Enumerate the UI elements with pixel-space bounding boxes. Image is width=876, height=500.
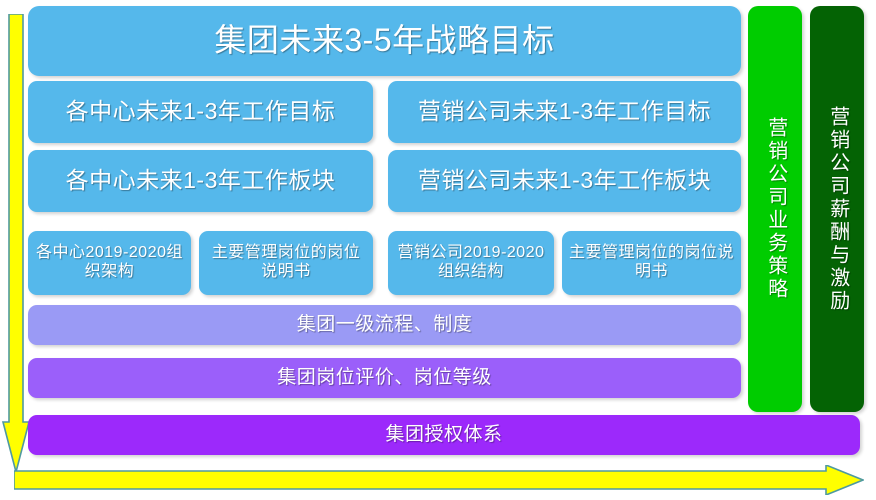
vertical-bar-business-strategy: 营销公司业务策略 [748, 6, 802, 412]
mini-box-center-org: 各中心2019-2020组织架构 [28, 231, 191, 295]
mini-box-center-jd-label: 主要管理岗位的岗位说明书 [205, 244, 367, 282]
band-authorization-label: 集团授权体系 [385, 424, 502, 446]
plate-box-center: 各中心未来1-3年工作板块 [28, 150, 373, 212]
plate-box-center-label: 各中心未来1-3年工作板块 [66, 167, 336, 194]
band-authorization: 集团授权体系 [28, 415, 860, 455]
plate-box-marketing: 营销公司未来1-3年工作板块 [388, 150, 741, 212]
band-group-process: 集团一级流程、制度 [28, 305, 741, 345]
mini-box-marketing-org: 营销公司2019-2020组织结构 [388, 231, 554, 295]
right-arrow-icon [14, 465, 864, 495]
mini-box-center-jd: 主要管理岗位的岗位说明书 [199, 231, 373, 295]
vertical-bar-business-strategy-label: 营销公司业务策略 [763, 117, 787, 301]
title-box-label: 集团未来3-5年战略目标 [214, 22, 554, 60]
goal-box-marketing: 营销公司未来1-3年工作目标 [388, 81, 741, 143]
down-arrow-icon [2, 14, 30, 474]
mini-box-marketing-jd: 主要管理岗位的岗位说明书 [562, 231, 741, 295]
title-box: 集团未来3-5年战略目标 [28, 6, 741, 76]
vertical-bar-compensation-incentive: 营销公司薪酬与激励 [810, 6, 864, 412]
goal-box-center-label: 各中心未来1-3年工作目标 [66, 98, 336, 125]
mini-box-center-org-label: 各中心2019-2020组织架构 [34, 244, 185, 282]
band-group-process-label: 集团一级流程、制度 [297, 314, 473, 336]
mini-box-marketing-jd-label: 主要管理岗位的岗位说明书 [568, 244, 735, 282]
band-job-grading-label: 集团岗位评价、岗位等级 [277, 367, 492, 389]
diagram-canvas: 集团未来3-5年战略目标 各中心未来1-3年工作目标 营销公司未来1-3年工作目… [0, 0, 876, 500]
goal-box-center: 各中心未来1-3年工作目标 [28, 81, 373, 143]
goal-box-marketing-label: 营销公司未来1-3年工作目标 [418, 98, 711, 125]
band-job-grading: 集团岗位评价、岗位等级 [28, 358, 741, 398]
plate-box-marketing-label: 营销公司未来1-3年工作板块 [418, 167, 711, 194]
mini-box-marketing-org-label: 营销公司2019-2020组织结构 [394, 244, 548, 282]
vertical-bar-compensation-incentive-label: 营销公司薪酬与激励 [825, 106, 849, 313]
